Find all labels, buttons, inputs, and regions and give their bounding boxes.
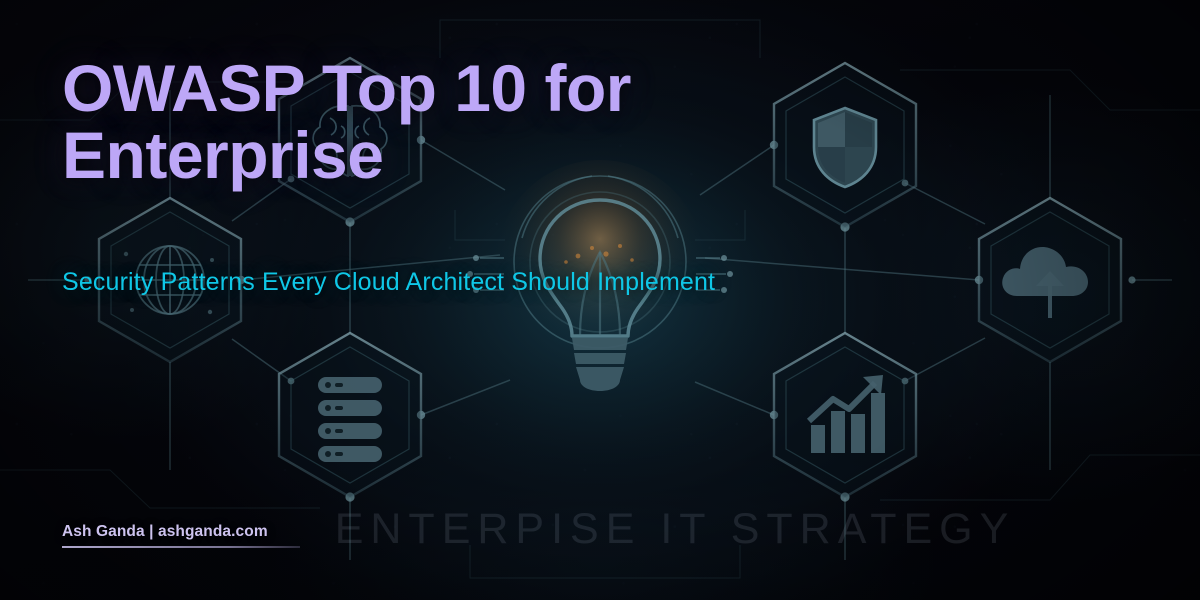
headline-line-1: OWASP Top 10 for [62,51,631,125]
hex-node-cloud-upload [979,198,1121,362]
social-banner: ENTERPISE IT STRATEGY OWASP Top 10 for E… [0,0,1200,600]
footer-byline-text: Ash Ganda | ashganda.com [62,523,300,541]
page-subtitle: Security Patterns Every Cloud Architect … [62,268,715,297]
page-title: OWASP Top 10 for Enterprise [62,55,722,190]
headline-line-2: Enterprise [62,118,383,192]
footer-byline: Ash Ganda | ashganda.com [62,523,300,548]
footer-underline-rule [62,546,300,548]
